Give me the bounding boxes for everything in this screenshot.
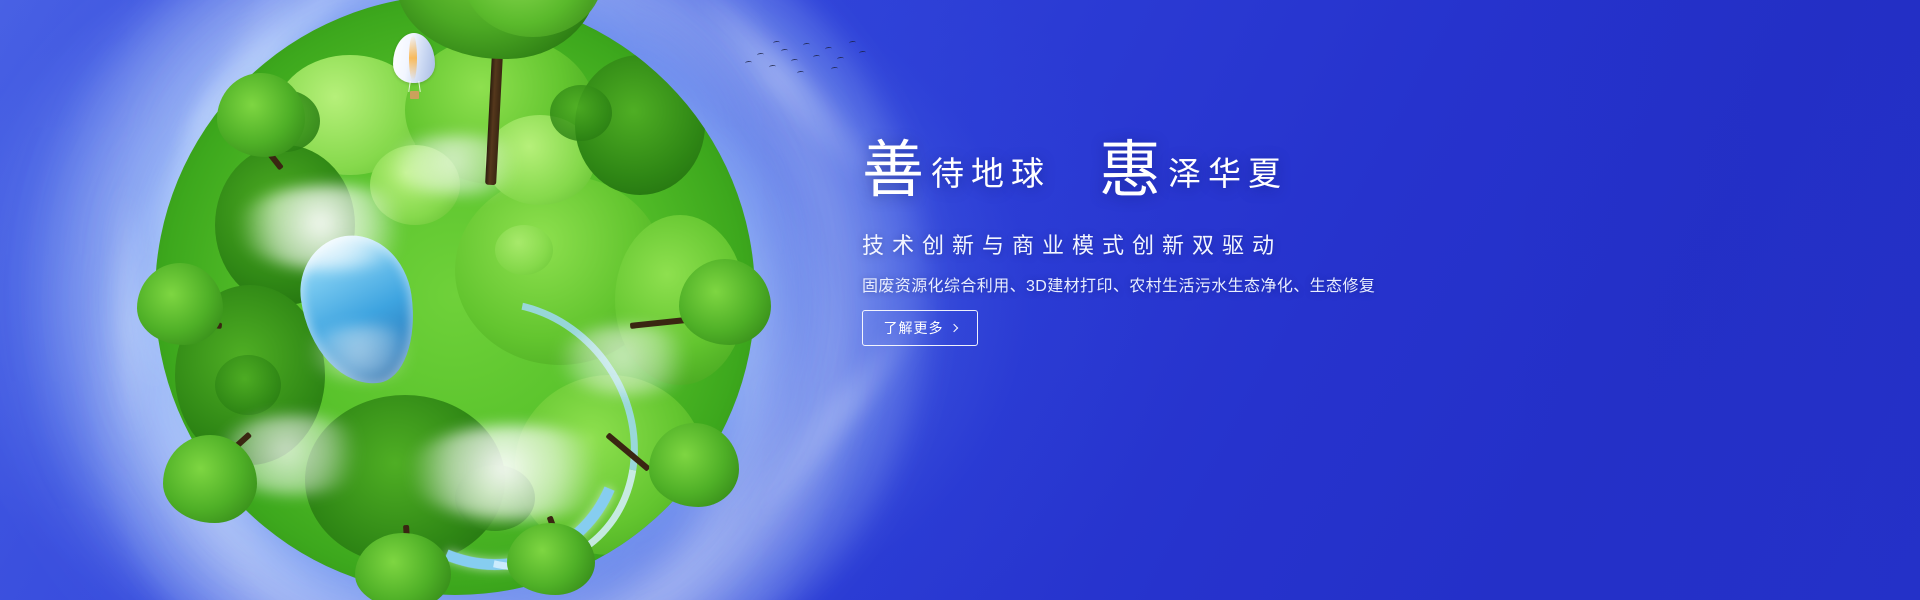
rim-tree (217, 73, 305, 157)
learn-more-label: 了解更多 (884, 318, 944, 338)
hot-air-balloon-icon (393, 33, 439, 111)
forest-cluster (215, 355, 281, 415)
bird-icon (757, 53, 764, 58)
bird-icon (745, 61, 752, 66)
bird-icon (797, 71, 804, 76)
rim-tree (679, 259, 771, 345)
hero-copy-block: 善待地球惠泽华夏 技术创新与商业模式创新双驱动 固废资源化综合利用、3D建材打印… (862, 0, 1422, 600)
tiny-planet-illustration (155, 0, 755, 595)
rim-tree (507, 523, 595, 595)
rim-tree (163, 435, 257, 523)
headline-char-1: 善 (862, 140, 925, 202)
right-vignette (1500, 0, 1920, 600)
hero-banner: 善待地球惠泽华夏 技术创新与商业模式创新双驱动 固废资源化综合利用、3D建材打印… (0, 0, 1920, 600)
balloon-stripe (409, 35, 417, 81)
hero-tree (455, 0, 635, 193)
hero-subtitle: 技术创新与商业模式创新双驱动 (862, 228, 1282, 260)
chevron-right-icon (949, 324, 957, 332)
bird-icon (803, 43, 810, 48)
bird-icon (781, 49, 788, 54)
forest-cluster (495, 225, 553, 275)
bird-icon (813, 55, 820, 60)
headline-char-2: 惠 (1099, 140, 1162, 202)
headline-text-2: 泽华夏 (1168, 159, 1288, 192)
bird-icon (791, 59, 798, 64)
bird-icon (825, 47, 832, 52)
rim-tree (137, 263, 223, 345)
bird-icon (837, 57, 844, 62)
terrain-patch (370, 145, 460, 225)
hero-description: 固废资源化综合利用、3D建材打印、农村生活污水生态净化、生态修复 (862, 272, 1375, 296)
rim-tree (649, 423, 739, 507)
headline-text-1: 待地球 (931, 159, 1051, 192)
learn-more-button[interactable]: 了解更多 (862, 310, 978, 346)
balloon-basket (410, 91, 419, 99)
bird-icon (849, 41, 856, 46)
bird-flock (743, 35, 883, 95)
bird-icon (859, 51, 866, 56)
forest-cluster (455, 465, 535, 531)
bird-icon (773, 41, 780, 46)
bird-icon (769, 65, 776, 70)
bird-icon (831, 67, 838, 72)
hero-headline: 善待地球惠泽华夏 (862, 140, 1422, 220)
